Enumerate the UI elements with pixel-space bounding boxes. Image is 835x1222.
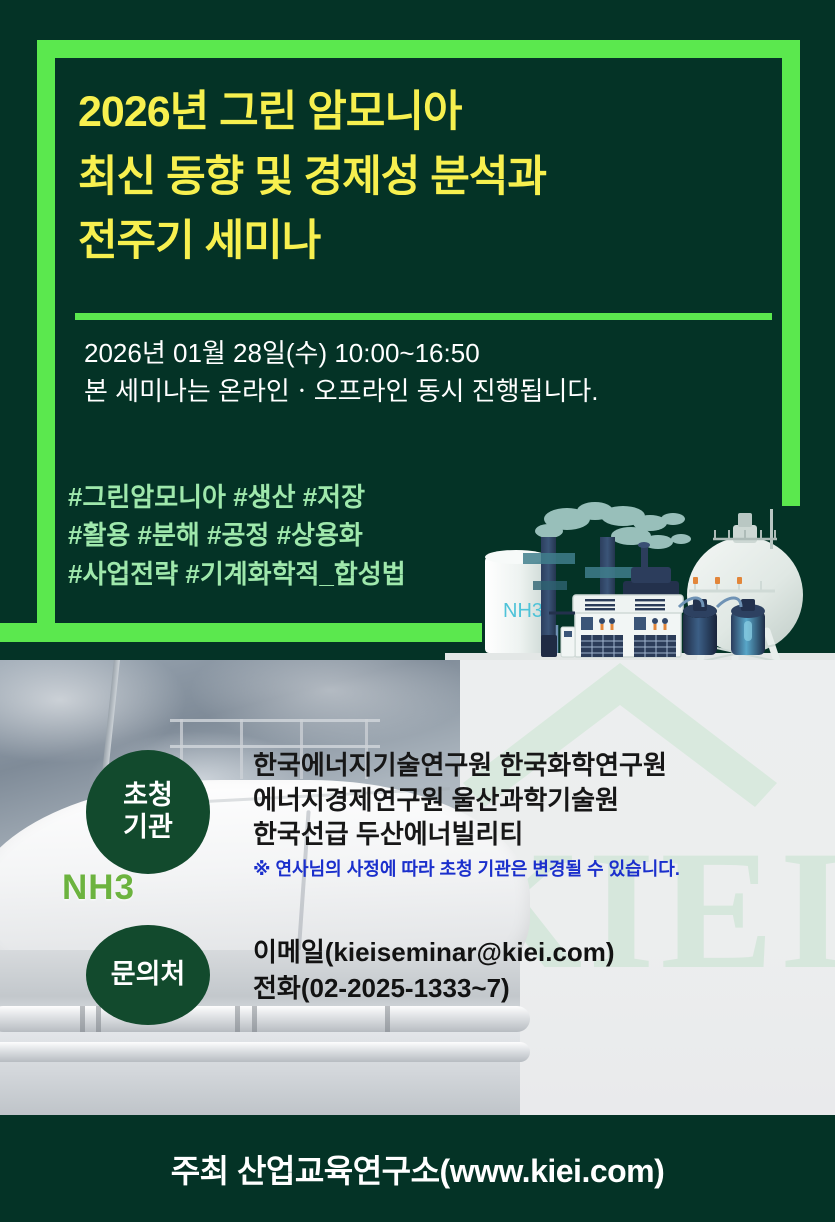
pipe-ring-4 bbox=[252, 1006, 257, 1032]
title-line-3: 전주기 세미나 bbox=[78, 209, 768, 274]
ammonia-plant-illustration: NH3 bbox=[445, 495, 835, 660]
event-date-block: 2026년 01월 28일(수) 10:00~16:50 본 세미나는 온라인ㆍ… bbox=[84, 335, 784, 410]
title-line-2: 최신 동향 및 경제성 분석과 bbox=[78, 145, 768, 210]
svg-text:NH3: NH3 bbox=[503, 600, 543, 622]
contact-details: 이메일(kieiseminar@kiei.com) 전화(02-2025-133… bbox=[253, 935, 813, 1007]
invited-change-note: ※ 연사님의 사정에 따라 초청 기관은 변경될 수 있습니다. bbox=[253, 855, 813, 881]
contact-phone[interactable]: 전화(02-2025-1333~7) bbox=[253, 971, 813, 1007]
organizer-text[interactable]: 주최 산업교육연구소(www.kiei.com) bbox=[171, 1146, 665, 1192]
footer-bar: 주최 산업교육연구소(www.kiei.com) bbox=[0, 1115, 835, 1222]
invited-institutions-list: 한국에너지기술연구원 한국화학연구원 에너지경제연구원 울산과학기술원 한국선급… bbox=[253, 748, 813, 881]
title-line-1: 2026년 그린 암모니아 bbox=[78, 80, 768, 145]
event-datetime: 2026년 01월 28일(수) 10:00~16:50 bbox=[84, 335, 784, 373]
contact-badge: 문의처 bbox=[86, 925, 210, 1025]
invited-badge-line-2: 기관 bbox=[123, 812, 173, 844]
event-format-note: 본 세미나는 온라인ㆍ오프라인 동시 진행됩니다. bbox=[84, 373, 784, 411]
org-line-1: 한국에너지기술연구원 한국화학연구원 bbox=[253, 748, 813, 783]
pipe-ring-1 bbox=[80, 1006, 85, 1032]
title-divider-rule bbox=[75, 313, 772, 320]
frame-border-top bbox=[37, 40, 800, 58]
frame-border-left bbox=[37, 40, 55, 632]
frame-border-bottom bbox=[0, 623, 482, 642]
invited-badge-line-1: 초청 bbox=[123, 780, 173, 812]
poster-title: 2026년 그린 암모니아 최신 동향 및 경제성 분석과 전주기 세미나 bbox=[78, 80, 768, 274]
org-line-3: 한국선급 두산에너빌리티 bbox=[253, 817, 813, 852]
pipe-ring-2 bbox=[96, 1006, 101, 1032]
seminar-poster: 2026년 그린 암모니아 최신 동향 및 경제성 분석과 전주기 세미나 20… bbox=[0, 0, 835, 1222]
org-line-2: 에너지경제연구원 울산과학기술원 bbox=[253, 783, 813, 818]
rail-post-2 bbox=[240, 719, 243, 779]
pipe-ring-3 bbox=[235, 1006, 240, 1032]
frame-border-right bbox=[782, 40, 800, 506]
tanker-nh3-label: NH3 bbox=[62, 868, 135, 908]
invited-institutions-badge: 초청 기관 bbox=[86, 750, 210, 874]
pipe-ring-5 bbox=[385, 1006, 390, 1032]
rail-top bbox=[170, 719, 380, 722]
pipe-secondary bbox=[0, 1042, 530, 1062]
contact-badge-label: 문의처 bbox=[111, 959, 186, 991]
top-green-panel: 2026년 그린 암모니아 최신 동향 및 경제성 분석과 전주기 세미나 20… bbox=[0, 0, 835, 660]
contact-email[interactable]: 이메일(kieiseminar@kiei.com) bbox=[253, 935, 813, 971]
